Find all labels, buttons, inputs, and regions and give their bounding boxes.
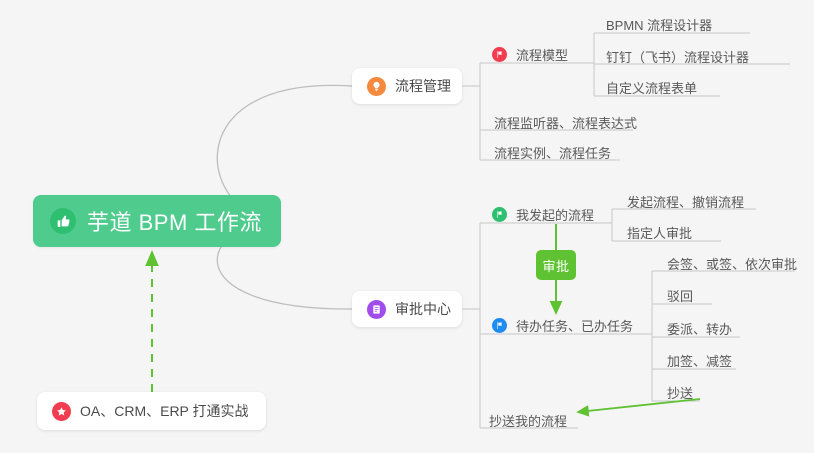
- clipboard-icon: [367, 300, 386, 319]
- branch-label-approval-center: 审批中心: [395, 299, 451, 319]
- node-label-my-started-processes: 我发起的流程: [516, 205, 594, 224]
- approval-flow-badge: 审批: [536, 250, 576, 280]
- node-label-countersign-or-sequential: 会签、或签、依次审批: [667, 254, 797, 273]
- node-label-process-model: 流程模型: [516, 45, 568, 64]
- node-label-add-remove-sign: 加签、减签: [667, 351, 732, 370]
- flag-icon: [492, 47, 507, 62]
- lightbulb-icon: [367, 77, 386, 96]
- node-label-delegate-transfer: 委派、转办: [667, 319, 732, 338]
- node-label-custom-process-form: 自定义流程表单: [606, 78, 697, 97]
- node-label-carbon-copy: 抄送: [667, 383, 693, 402]
- flag-icon: [492, 318, 507, 333]
- node-label-assignee-approval: 指定人审批: [627, 223, 692, 242]
- node-assignee-approval[interactable]: 指定人审批: [625, 219, 692, 245]
- node-label-todo-done-tasks: 待办任务、已办任务: [516, 316, 633, 335]
- node-cc-to-me-processes[interactable]: 抄送我的流程: [487, 407, 567, 433]
- node-bpmn-designer[interactable]: BPMN 流程设计器: [604, 11, 712, 37]
- node-add-remove-sign[interactable]: 加签、减签: [665, 347, 732, 373]
- node-label-dingtalk-feishu-designer: 钉钉（飞书）流程设计器: [606, 47, 749, 66]
- approval-flow-badge-label: 审批: [542, 256, 569, 275]
- node-my-started-processes[interactable]: 我发起的流程: [492, 201, 594, 227]
- star-icon: [52, 402, 71, 421]
- branch-node-process-management[interactable]: 流程管理: [352, 68, 462, 104]
- node-delegate-transfer[interactable]: 委派、转办: [665, 315, 732, 341]
- node-integration-practice[interactable]: OA、CRM、ERP 打通实战: [37, 392, 266, 430]
- node-process-instance-task[interactable]: 流程实例、流程任务: [492, 139, 611, 165]
- node-reject[interactable]: 驳回: [665, 282, 693, 308]
- branch-node-approval-center[interactable]: 审批中心: [352, 291, 462, 327]
- thumbs-up-icon: [50, 208, 76, 234]
- root-label: 芋道 BPM 工作流: [87, 205, 262, 237]
- node-carbon-copy[interactable]: 抄送: [665, 379, 693, 405]
- node-label-reject: 驳回: [667, 286, 693, 305]
- node-label-start-cancel-process: 发起流程、撤销流程: [627, 192, 744, 211]
- node-custom-process-form[interactable]: 自定义流程表单: [604, 74, 697, 100]
- node-label-process-instance-task: 流程实例、流程任务: [494, 143, 611, 162]
- mindmap-canvas: 芋道 BPM 工作流 流程管理 流程模型 流程监听器、流程表达式 流程实例、流程…: [0, 0, 814, 453]
- node-process-model[interactable]: 流程模型: [492, 41, 568, 67]
- branch-label-process-management: 流程管理: [395, 76, 451, 96]
- node-label-bpmn-designer: BPMN 流程设计器: [606, 15, 712, 34]
- node-countersign-or-sequential[interactable]: 会签、或签、依次审批: [665, 250, 797, 276]
- node-todo-done-tasks[interactable]: 待办任务、已办任务: [492, 312, 633, 338]
- node-dingtalk-feishu-designer[interactable]: 钉钉（飞书）流程设计器: [604, 43, 749, 69]
- node-label-integration-practice: OA、CRM、ERP 打通实战: [80, 401, 249, 421]
- flag-icon: [492, 207, 507, 222]
- node-start-cancel-process[interactable]: 发起流程、撤销流程: [625, 188, 744, 214]
- node-label-process-listener-expression: 流程监听器、流程表达式: [494, 113, 637, 132]
- root-node[interactable]: 芋道 BPM 工作流: [33, 195, 281, 247]
- node-label-cc-to-me-processes: 抄送我的流程: [489, 411, 567, 430]
- node-process-listener-expression[interactable]: 流程监听器、流程表达式: [492, 109, 637, 135]
